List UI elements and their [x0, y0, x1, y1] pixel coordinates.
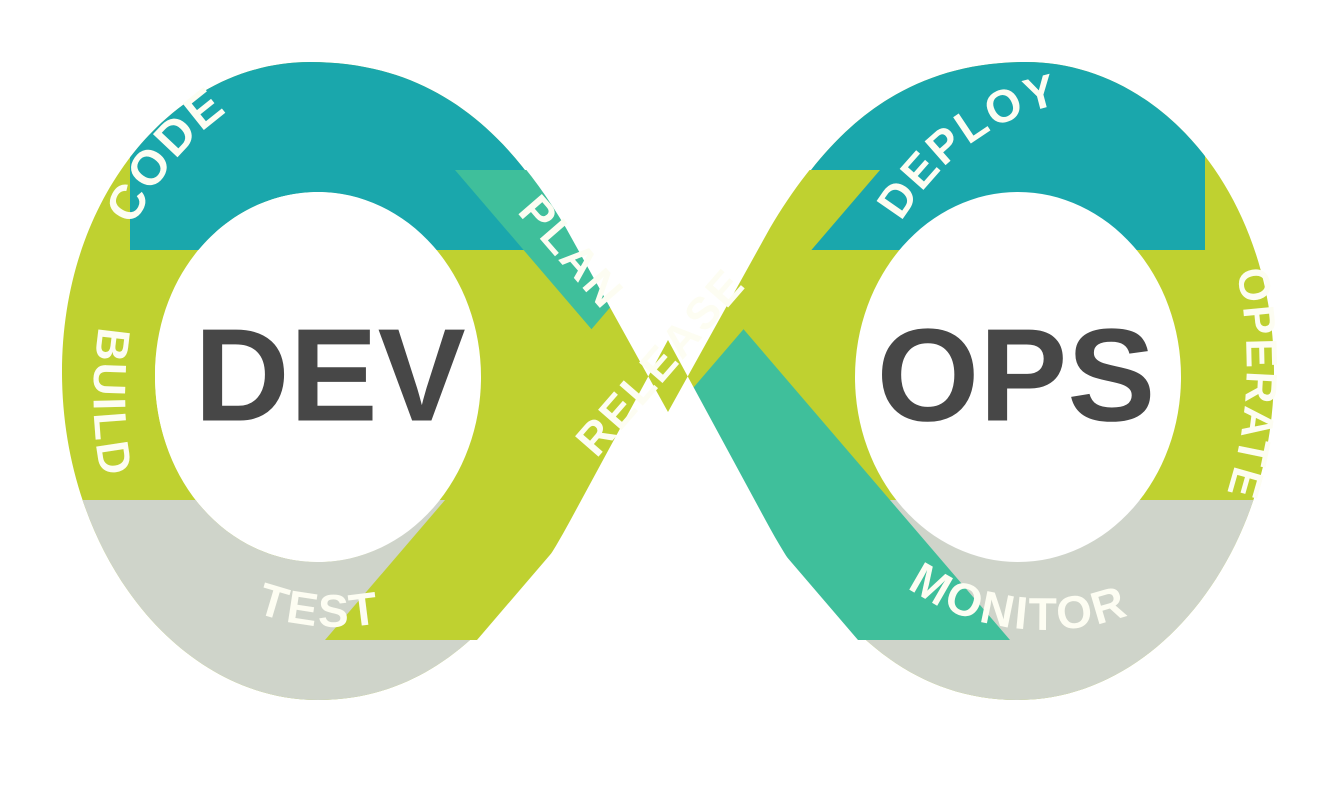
- devops-diagram: CODE BUILD TEST DEPLOY OPERATE MONITOR P…: [0, 0, 1336, 786]
- ops-core-label: OPS: [877, 302, 1156, 449]
- dev-core-label: DEV: [194, 302, 465, 449]
- devops-infinity-loop-graphic: CODE BUILD TEST DEPLOY OPERATE MONITOR P…: [0, 0, 1336, 786]
- stage-label-build: BUILD: [83, 325, 143, 480]
